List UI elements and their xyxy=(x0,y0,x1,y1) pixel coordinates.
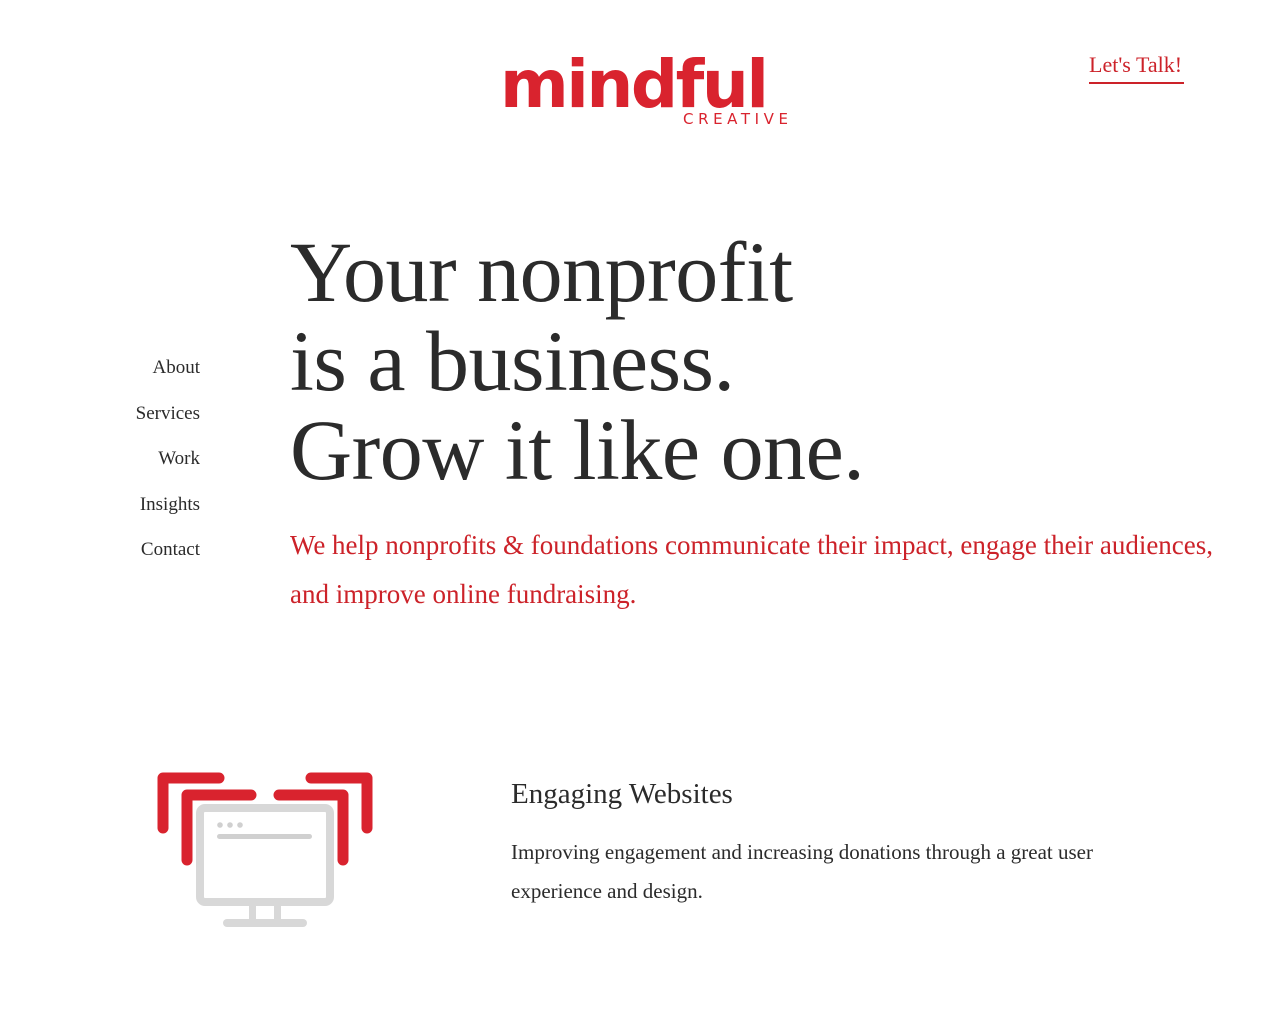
hero-headline-line-1: Your nonprofit xyxy=(290,228,1250,317)
hero-headline-line-3: Grow it like one. xyxy=(290,406,1250,495)
side-navigation: About Services Work Insights Contact xyxy=(90,345,200,573)
service-text-block: Engaging Websites Improving engagement a… xyxy=(511,777,1151,811)
monitor-browser-icon xyxy=(155,760,375,935)
service-title: Engaging Websites xyxy=(511,777,1151,811)
hero-headline: Your nonprofit is a business. Grow it li… xyxy=(290,228,1250,495)
nav-item-work[interactable]: Work xyxy=(90,436,200,482)
service-item-engaging-websites: Engaging Websites Improving engagement a… xyxy=(0,755,1280,955)
hero-subtitle: We help nonprofits & foundations communi… xyxy=(290,521,1225,619)
nav-item-insights[interactable]: Insights xyxy=(90,482,200,528)
logo-wordmark: mindful xyxy=(500,52,766,118)
nav-item-contact[interactable]: Contact xyxy=(90,527,200,573)
nav-item-services[interactable]: Services xyxy=(90,391,200,437)
hero-section: Your nonprofit is a business. Grow it li… xyxy=(290,228,1250,495)
site-logo[interactable]: mindful CREATIVE xyxy=(500,52,820,142)
lets-talk-link[interactable]: Let's Talk! xyxy=(1089,52,1182,78)
service-description: Improving engagement and increasing dona… xyxy=(511,833,1136,911)
nav-item-about[interactable]: About xyxy=(90,345,200,391)
site-header: mindful CREATIVE Let's Talk! xyxy=(0,0,1280,150)
logo-subtitle: CREATIVE xyxy=(683,112,793,127)
hero-headline-line-2: is a business. xyxy=(290,317,1250,406)
